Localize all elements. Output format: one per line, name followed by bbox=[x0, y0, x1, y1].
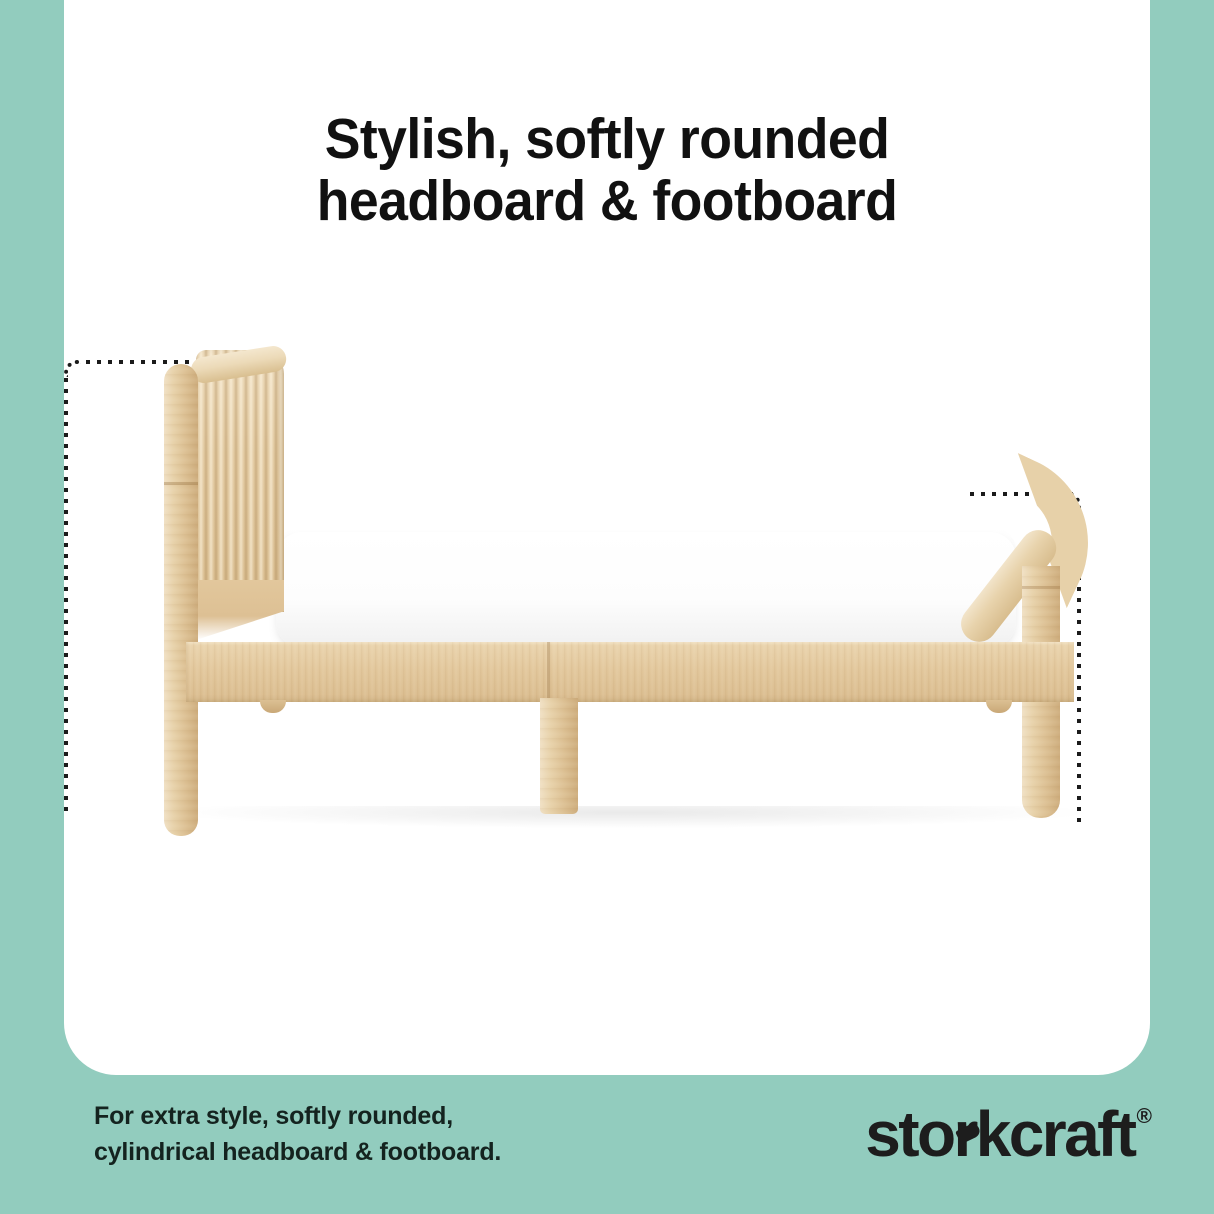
mattress bbox=[276, 532, 1016, 648]
headboard bbox=[164, 350, 284, 620]
headline-line-2: headboard & footboard bbox=[97, 170, 1118, 232]
footboard-leg-seam bbox=[1022, 586, 1060, 589]
bracket-side-dash bbox=[64, 378, 68, 816]
center-support-leg bbox=[540, 698, 578, 814]
page-title: Stylish, softly rounded headboard & foot… bbox=[97, 108, 1118, 232]
caption-line-2: cylindrical headboard & footboard. bbox=[94, 1134, 501, 1170]
side-rail-seam bbox=[547, 642, 550, 702]
brand-name-text: storkcraft bbox=[865, 1098, 1134, 1170]
headboard-slat-panel bbox=[196, 350, 284, 612]
headboard-post-seam bbox=[164, 482, 198, 485]
marketing-image-canvas: Stylish, softly rounded headboard & foot… bbox=[0, 0, 1214, 1214]
floor-shadow bbox=[174, 806, 1084, 828]
headboard-panel-base bbox=[196, 580, 284, 640]
product-illustration bbox=[64, 330, 1150, 860]
bracket-corner-icon bbox=[64, 360, 81, 377]
brand-wordmark: storkcraft bbox=[865, 1102, 1134, 1166]
rail-peg bbox=[986, 700, 1012, 713]
footer-caption: For extra style, softly rounded, cylindr… bbox=[94, 1098, 501, 1170]
headline-line-1: Stylish, softly rounded bbox=[97, 108, 1118, 170]
headboard-post bbox=[164, 364, 198, 640]
bed-side-rail bbox=[186, 642, 1074, 702]
rail-peg bbox=[260, 700, 286, 713]
caption-line-1: For extra style, softly rounded, bbox=[94, 1098, 501, 1134]
brand-logo: storkcraft ® bbox=[865, 1102, 1152, 1166]
registered-trademark-symbol: ® bbox=[1137, 1106, 1152, 1127]
